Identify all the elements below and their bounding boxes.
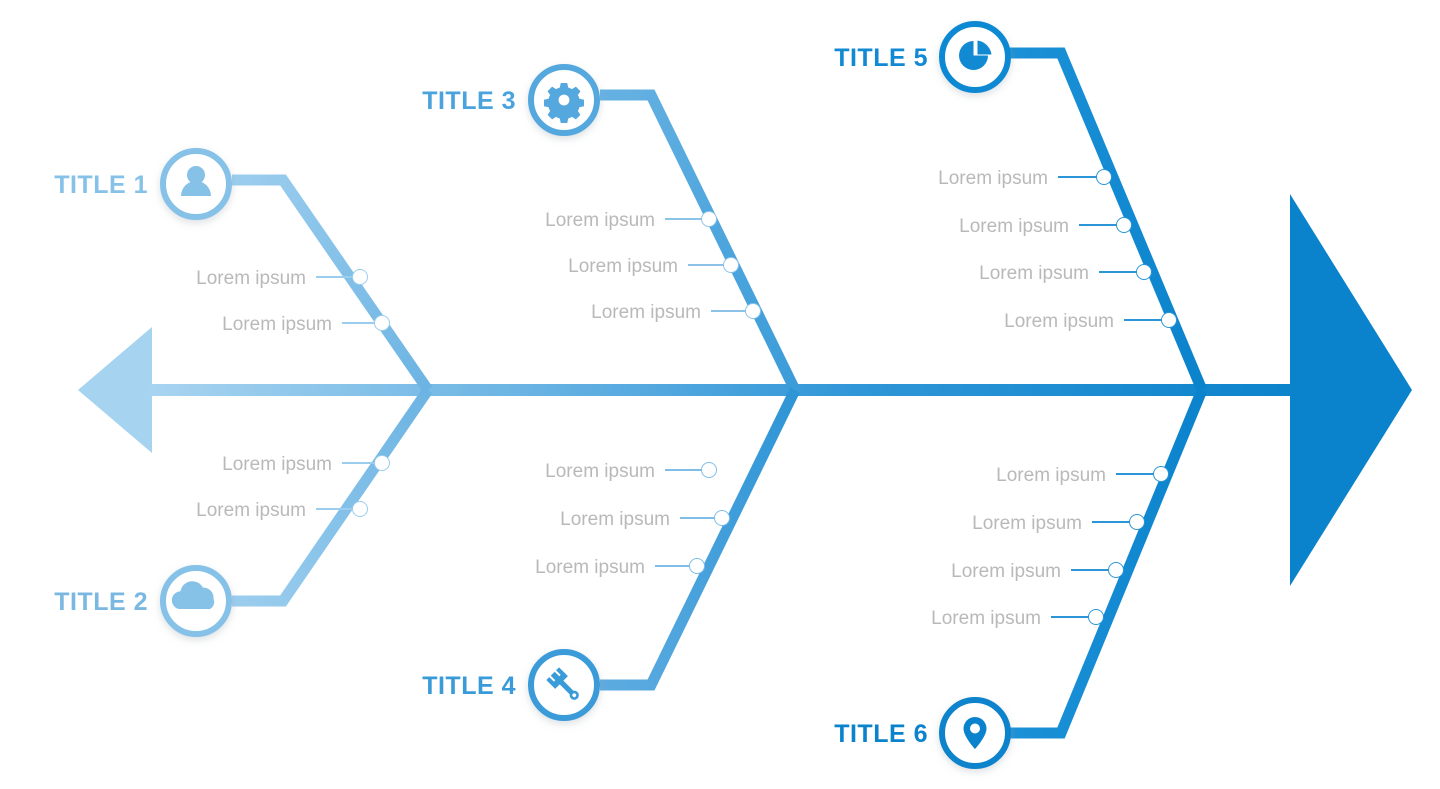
branch-1-cause-label-1: Lorem ipsum — [196, 268, 306, 289]
spine-bar — [150, 384, 1298, 396]
branch-3-bone — [600, 95, 795, 390]
branch-5-cause-label-4: Lorem ipsum — [1004, 311, 1114, 332]
branch-1-connector-dot-1 — [353, 270, 368, 285]
branch-4-cause-label-3: Lorem ipsum — [535, 557, 645, 578]
branch-2-cause-label-2: Lorem ipsum — [196, 500, 306, 521]
branch-4-title: TITLE 4 — [422, 672, 516, 700]
branch-3-connector-dot-2 — [724, 258, 739, 273]
branch-5-connector-dot-1 — [1097, 170, 1112, 185]
branch-6-connector-dot-2 — [1130, 515, 1145, 530]
branch-6-connector-dot-4 — [1089, 610, 1104, 625]
branch-6-connector-dot-1 — [1154, 467, 1169, 482]
branch-2-title: TITLE 2 — [54, 588, 148, 616]
branch-3-group[interactable]: Lorem ipsum Lorem ipsum Lorem ipsum TITL… — [422, 67, 795, 390]
branch-3-title: TITLE 3 — [422, 87, 516, 115]
branch-6-connector-dot-3 — [1109, 563, 1124, 578]
branch-3-cause-label-2: Lorem ipsum — [568, 256, 678, 277]
branch-4-connector-dot-3 — [690, 559, 705, 574]
branch-5-cause-label-2: Lorem ipsum — [959, 216, 1069, 237]
branch-1-connector-dot-2 — [375, 316, 390, 331]
branch-6-group[interactable]: Lorem ipsum Lorem ipsum Lorem ipsum Lore… — [834, 390, 1202, 766]
branch-3-connector-dot-3 — [746, 304, 761, 319]
branch-1-group[interactable]: Lorem ipsum Lorem ipsum TITLE 1 — [54, 151, 428, 390]
branch-4-cause-label-2: Lorem ipsum — [560, 509, 670, 530]
branch-2-cause-label-1: Lorem ipsum — [222, 454, 332, 475]
branch-3-cause-label-1: Lorem ipsum — [545, 210, 655, 231]
branch-6-cause-label-4: Lorem ipsum — [931, 608, 1041, 629]
branch-3-connector-dot-1 — [702, 212, 717, 227]
branch-2-connector-dot-1 — [375, 456, 390, 471]
branch-4-cause-label-1: Lorem ipsum — [545, 461, 655, 482]
branch-5-group[interactable]: Lorem ipsum Lorem ipsum Lorem ipsum Lore… — [834, 24, 1202, 390]
branch-6-cause-label-3: Lorem ipsum — [951, 561, 1061, 582]
branch-5-title: TITLE 5 — [834, 44, 928, 72]
branch-4-connector-dot-2 — [715, 511, 730, 526]
branch-4-connector-dot-1 — [702, 463, 717, 478]
branch-5-connector-dot-4 — [1162, 313, 1177, 328]
branch-4-group[interactable]: Lorem ipsum Lorem ipsum Lorem ipsum TITL… — [422, 390, 795, 718]
branch-5-cause-label-1: Lorem ipsum — [938, 168, 1048, 189]
branch-4-bone — [600, 390, 795, 685]
fishbone-diagram-canvas: Lorem ipsum Lorem ipsum TITLE 1 Lorem ip… — [0, 0, 1440, 789]
branch-5-connector-dot-2 — [1117, 218, 1132, 233]
gear-icon — [544, 83, 584, 123]
fishbone-diagram: Lorem ipsum Lorem ipsum TITLE 1 Lorem ip… — [0, 0, 1440, 789]
branch-2-group[interactable]: Lorem ipsum Lorem ipsum TITLE 2 — [54, 390, 428, 634]
branch-2-connector-dot-2 — [353, 502, 368, 517]
branch-1-title: TITLE 1 — [54, 171, 148, 199]
branch-6-title: TITLE 6 — [834, 720, 928, 748]
branch-5-connector-dot-3 — [1137, 265, 1152, 280]
branch-6-cause-label-1: Lorem ipsum — [996, 465, 1106, 486]
branch-6-cause-label-2: Lorem ipsum — [972, 513, 1082, 534]
branch-2-bone — [232, 390, 428, 601]
head-arrowhead-icon — [1290, 194, 1412, 586]
branch-1-cause-label-2: Lorem ipsum — [222, 314, 332, 335]
branch-5-cause-label-3: Lorem ipsum — [979, 263, 1089, 284]
branch-3-cause-label-3: Lorem ipsum — [591, 302, 701, 323]
spine-group — [78, 194, 1412, 586]
tail-arrowhead-icon — [78, 327, 152, 453]
